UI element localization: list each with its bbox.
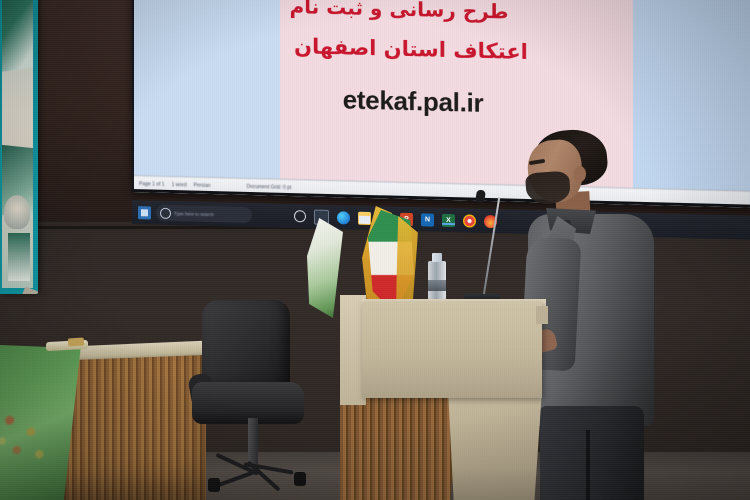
search-placeholder: Type here to search <box>174 211 214 217</box>
chair-caster <box>208 478 220 492</box>
chair-base <box>202 458 306 498</box>
ear <box>574 166 586 182</box>
tablecloth-motif <box>0 395 57 472</box>
trouser-seam <box>586 430 590 500</box>
taskbar-search-input[interactable]: Type here to search <box>156 205 252 223</box>
bottle-cap <box>432 253 442 262</box>
chair-backrest <box>202 300 290 392</box>
podium-column <box>448 390 542 500</box>
podium <box>340 290 562 500</box>
status-grid: Document Grid: 0 pt <box>247 184 292 191</box>
status-words: 1 word <box>172 182 187 188</box>
status-page: Page 1 of 1 <box>139 181 165 188</box>
chair-caster <box>294 472 306 486</box>
status-language: Persian <box>194 183 211 189</box>
onenote-icon[interactable] <box>421 213 434 226</box>
flag-cloth <box>307 218 343 318</box>
office-chair <box>196 300 314 500</box>
banner-art-top <box>2 0 33 72</box>
podium-edge <box>536 306 548 324</box>
podium-wood-base <box>340 390 460 500</box>
podium-front-panel <box>362 302 542 398</box>
banner-art-bottom <box>8 233 30 281</box>
start-button-icon[interactable] <box>138 206 151 219</box>
photograph-scene: طرح رسانی و ثبت نام اعتکاف استان اصفهان … <box>0 0 750 500</box>
table <box>0 345 212 500</box>
search-icon <box>160 207 171 218</box>
banner-artwork <box>2 0 33 288</box>
table-object <box>68 337 85 346</box>
microphone-head <box>475 189 486 203</box>
banner-art-figure <box>4 195 30 229</box>
left-standee-banner <box>0 0 38 294</box>
